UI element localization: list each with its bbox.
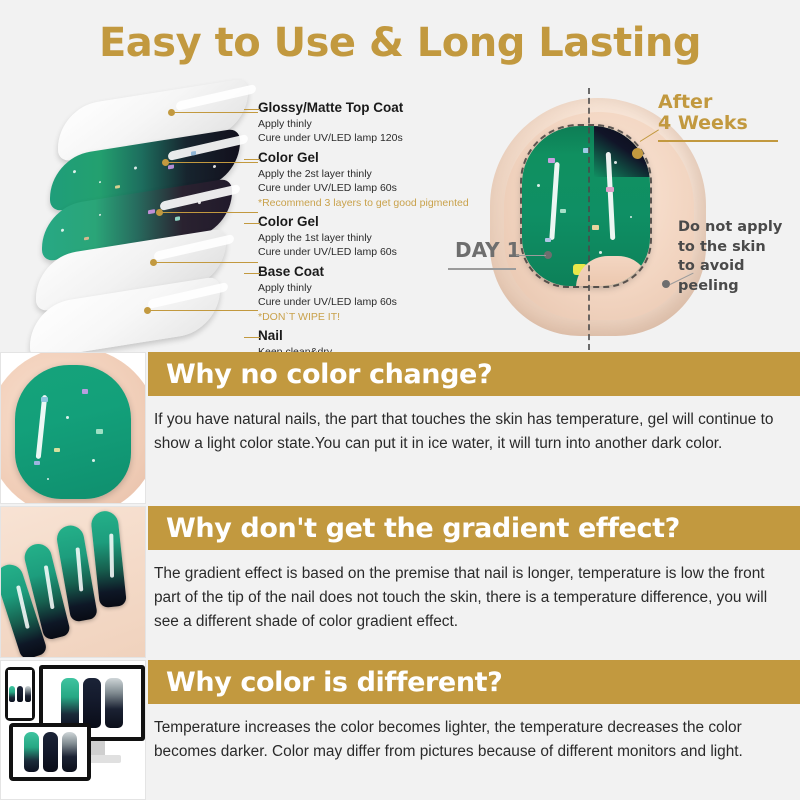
nail-outline-dashed [520,124,652,288]
faq-question-2: Why don't get the gradient effect? [166,513,680,544]
label-day-1: DAY 1 [455,238,521,262]
label-do-not-apply-warning: Do not apply to the skin to avoid peelin… [678,218,800,296]
faq-section-2: Why don't get the gradient effect? The g… [0,506,800,658]
annotation-top-coat: Glossy/Matte Top Coat Apply thinly Cure … [258,100,503,146]
faq-header-bar-2: Why don't get the gradient effect? [148,506,800,550]
faq-thumbnail-single-nail [0,352,146,504]
faq-answer-2: The gradient effect is based on the prem… [148,550,800,634]
nail-layer-stack-diagram [40,87,255,337]
faq-thumbnail-gradient-nails [0,506,146,658]
warning-line-2: to the skin [678,238,800,258]
label-after-4-weeks: After 4 Weeks [658,92,748,135]
tablet-icon [9,723,91,781]
label-after-line-2: 4 Weeks [658,113,748,134]
warning-line-1: Do not apply [678,218,800,238]
faq-content-3: Why color is different? Temperature incr… [148,660,800,800]
leader-line-natural-nail [150,310,258,311]
annotation-title: Glossy/Matte Top Coat [258,100,503,117]
faq-thumbnail-devices [0,660,146,800]
faq-header-bar-1: Why no color change? [148,352,800,396]
phone-icon [5,667,35,721]
annotation-note: *Recommend 3 layers to get good pigmente… [258,196,503,210]
leader-line-base-coat [156,262,258,263]
gold-leader-dot-after [632,148,643,159]
annotation-base-coat: Base Coat Apply thinly Cure under UV/LED… [258,264,503,324]
annotation-title: Nail [258,328,503,345]
warning-line-3: to avoid peeling [678,257,800,296]
faq-content-1: Why no color change? If you have natural… [148,352,800,504]
leader-line-top-coat [174,112,258,113]
annotation-title: Base Coat [258,264,503,281]
faq-answer-3: Temperature increases the color becomes … [148,704,800,764]
annotation-color-gel-2: Color Gel Apply the 2st layer thinly Cur… [258,150,503,210]
leader-line-color-gel-2 [168,162,258,163]
annotation-line: Cure under UV/LED lamp 120s [258,131,503,145]
annotation-line: Apply thinly [258,281,503,295]
day1-after4weeks-divider [588,88,590,350]
annotation-line: Apply thinly [258,117,503,131]
leader-line-color-gel-1 [162,212,258,213]
annotation-title: Color Gel [258,150,503,167]
label-day-underline [448,268,516,270]
faq-question-3: Why color is different? [166,667,502,698]
annotation-note: *DON`T WIPE IT! [258,310,503,324]
annotation-line: Cure under UV/LED lamp 60s [258,181,503,195]
label-after-underline [658,140,778,142]
faq-content-2: Why don't get the gradient effect? The g… [148,506,800,658]
faq-answer-1: If you have natural nails, the part that… [148,396,800,456]
gray-leader-line-day [516,255,546,256]
page-title: Easy to Use & Long Lasting [0,20,800,66]
annotation-line: Cure under UV/LED lamp 60s [258,295,503,309]
faq-section-1: Why no color change? If you have natural… [0,352,800,504]
faq-question-1: Why no color change? [166,359,492,390]
faq-header-bar-3: Why color is different? [148,660,800,704]
annotation-line: Apply the 2st layer thinly [258,167,503,181]
label-after-line-1: After [658,92,748,113]
annotation-title: Color Gel [258,214,503,231]
faq-section-3: Why color is different? Temperature incr… [0,660,800,800]
